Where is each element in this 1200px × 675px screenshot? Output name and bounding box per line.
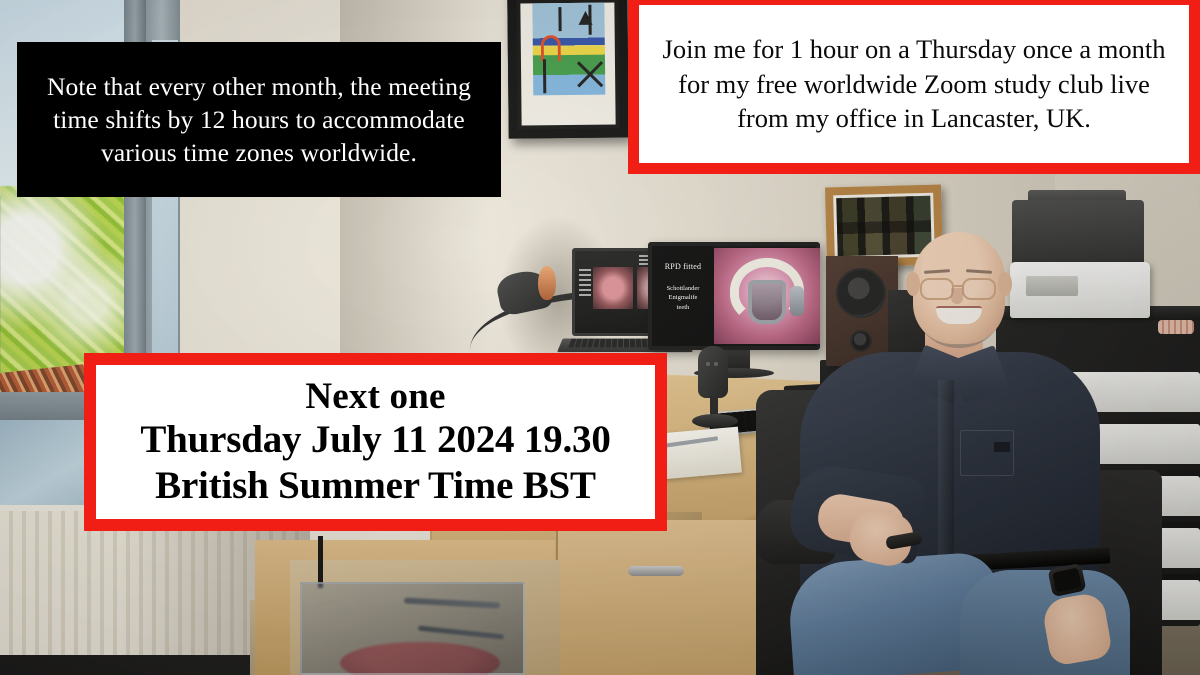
monitor-slide-line-3: teeth [652,303,714,312]
scanner-lid [1012,200,1144,268]
scanner-control-panel [1026,276,1078,296]
promo-image: RPD fitted Schottlander Enigmalife teeth [0,0,1200,675]
smartwatch-face [1052,568,1082,593]
speaker-tweeter [850,330,872,352]
laptop-screen-text-block [579,269,591,299]
next-meeting-timezone: British Summer Time BST [155,463,596,508]
artwork-mark-arrow [558,7,561,31]
shirt-pocket-tab [994,442,1010,452]
artwork-mark-arch [541,35,561,61]
artwork-canvas [532,3,605,96]
dental-model [1158,320,1194,334]
person-smile [936,306,982,324]
artwork-mat [520,3,615,126]
monitor-slide-line-1: Schottlander [652,284,714,293]
next-meeting-heading: Next one [305,376,445,417]
person-ear-right [998,272,1012,296]
copper-ornament [538,266,556,300]
desktop-monitor: RPD fitted Schottlander Enigmalife teeth [648,242,820,350]
intro-box-text: Join me for 1 hour on a Thursday once a … [653,32,1175,137]
microphone-base [692,414,738,428]
glasses-lens-left [920,278,954,300]
framed-artwork [507,0,629,139]
person-nose [951,288,963,304]
next-meeting-date: Thursday July 11 2024 19.30 [140,417,610,462]
monitor-slide-subtitle: Schottlander Enigmalife teeth [652,284,714,312]
turntable-cover-hinge [318,536,323,588]
denture-framework [748,280,786,324]
monitor-clinical-image [714,248,820,344]
laptop-clinical-photo-1 [593,267,633,309]
monitor-slide-title: RPD fitted [652,262,714,271]
artwork-mark-stem [543,59,546,93]
shirt-pocket [960,430,1014,476]
person-ear-left [906,272,920,296]
artwork-mark-oval [571,95,587,96]
intro-box: Join me for 1 hour on a Thursday once a … [628,0,1200,174]
microphone-grille-dot-2 [714,362,718,366]
denture-clasp [790,286,804,316]
monitor-slide-line-2: Enigmalife [652,293,714,302]
glasses-bridge [953,285,963,287]
microphone-grille-dot [706,362,710,366]
desk-drawer-unit [556,520,756,675]
microphone [698,346,728,398]
artwork-mark-spear [588,5,591,35]
notebook [658,427,742,480]
glasses-lens-right [962,278,996,300]
speaker-woofer [836,268,886,318]
desk-drawer-handle [628,566,684,576]
monitor-slide-text-pane: RPD fitted Schottlander Enigmalife teeth [652,246,714,346]
note-box: Note that every other month, the meeting… [17,42,501,197]
next-meeting-box: Next one Thursday July 11 2024 19.30 Bri… [84,353,667,531]
note-box-text: Note that every other month, the meeting… [29,70,489,169]
turntable-dust-cover [300,582,525,675]
photo-collage [836,196,931,256]
artwork-mark-cross [573,57,605,91]
